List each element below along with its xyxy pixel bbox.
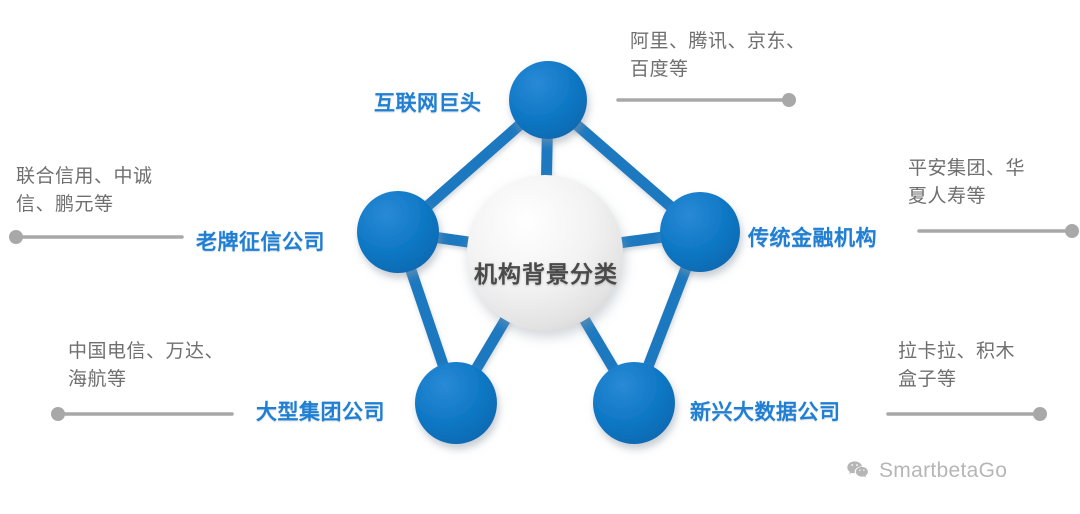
node-label-internet-giants[interactable]: 互联网巨头 [374,87,482,117]
leader-dot-internet-giants [782,93,796,107]
leader-dot-big-data-newcomers [1033,407,1047,421]
node-internet-giants[interactable] [509,61,587,139]
node-big-data-newcomers[interactable] [593,362,675,444]
annotation-internet-giants: 阿里、腾讯、京东、 百度等 [630,28,806,83]
node-large-conglomerates[interactable] [415,362,497,444]
leader-line-big-data-newcomers [888,407,1047,421]
watermark-text: SmartbetaGo [879,459,1007,483]
node-label-legacy-credit[interactable]: 老牌征信公司 [196,226,325,256]
annotation-large-conglomerates: 中国电信、万达、 海航等 [68,338,224,393]
node-label-big-data-newcomers[interactable]: 新兴大数据公司 [690,396,841,426]
center-hub-circle[interactable] [467,175,623,331]
leader-dot-legacy-credit [9,230,23,244]
leader-line-internet-giants [618,93,796,107]
annotation-big-data-newcomers: 拉卡拉、积木 盒子等 [898,338,1015,393]
annotation-legacy-credit: 联合信用、中诚 信、鹏元等 [16,163,153,218]
leader-line-large-conglomerates [51,407,232,421]
node-legacy-credit[interactable] [357,191,439,273]
diagram-canvas: 机构背景分类 互联网巨头 老牌征信公司 传统金融机构 大型集团公司 新兴大数据公… [0,0,1080,514]
center-hub-label: 机构背景分类 [474,255,618,289]
leader-line-traditional-finance [919,224,1079,238]
annotation-traditional-finance: 平安集团、华 夏人寿等 [908,155,1025,210]
leader-dot-traditional-finance [1065,224,1079,238]
node-label-large-conglomerates[interactable]: 大型集团公司 [256,396,385,426]
leader-dot-large-conglomerates [51,407,65,421]
node-traditional-finance[interactable] [660,192,740,272]
wechat-icon [845,458,870,483]
watermark: SmartbetaGo [845,458,1007,483]
leader-line-legacy-credit [9,230,182,244]
node-label-traditional-finance[interactable]: 传统金融机构 [748,222,877,252]
